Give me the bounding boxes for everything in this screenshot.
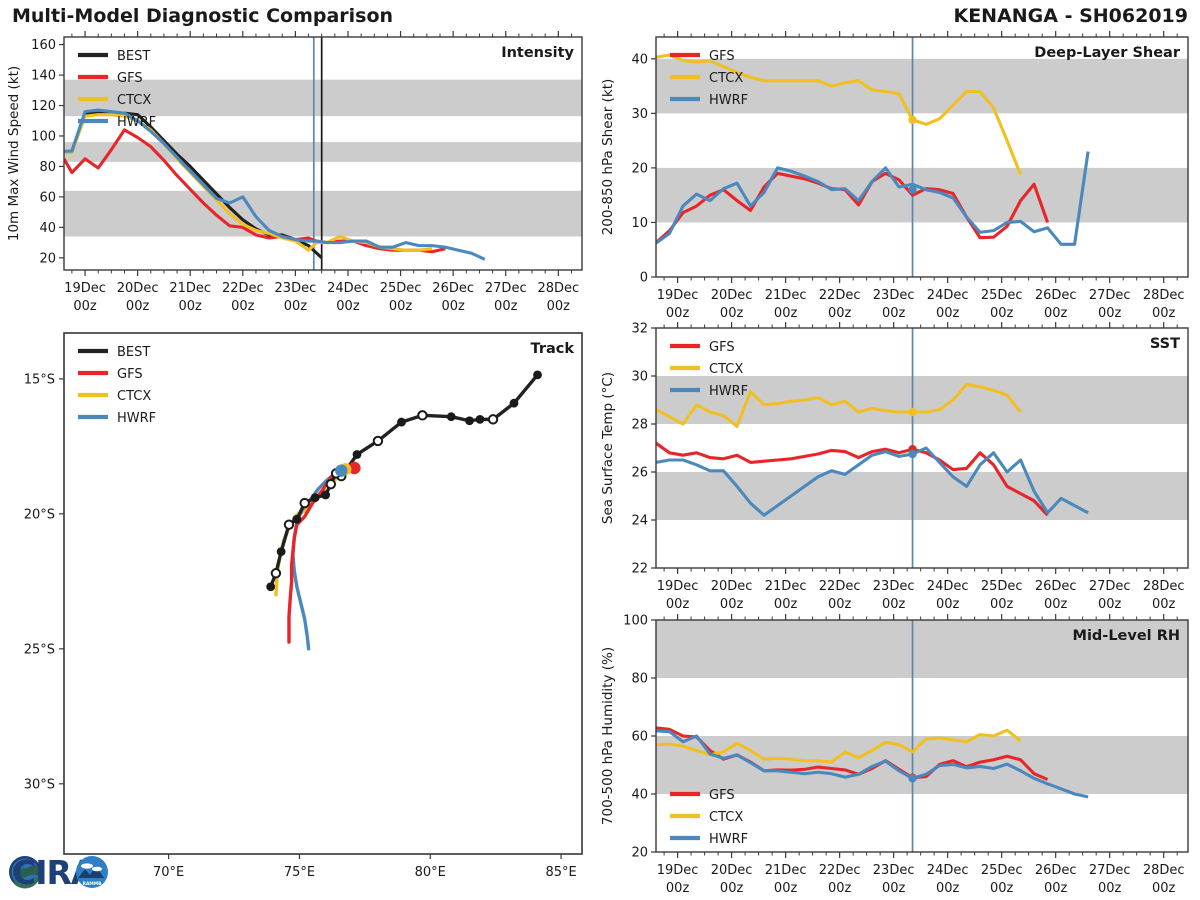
xtick-label-day-sst-19: 19Dec: [657, 579, 699, 594]
shaded-band-intensity-0: [64, 191, 582, 237]
xtick-label-day-rh-24: 24Dec: [927, 863, 969, 878]
ytick-label-intensity-60: 60: [39, 191, 56, 206]
track-marker-best-filled: [321, 491, 330, 500]
vref-marker-shear-ctcx: [908, 116, 916, 124]
xtick-label-day-sst-25: 25Dec: [981, 579, 1023, 594]
xtick-label-day-intensity-20: 20Dec: [117, 281, 159, 296]
xtick-label-hour-sst-19: 00z: [666, 597, 690, 612]
xtick-label-day-intensity-28: 28Dec: [537, 281, 579, 296]
axis-label-shear: 200-850 hPa Shear (kt): [600, 79, 616, 236]
xtick-label-track-2: 80°E: [415, 865, 446, 880]
track-current-position-hwrf: [335, 464, 347, 476]
xtick-label-hour-intensity-22: 00z: [231, 299, 255, 314]
legend-label-rh-gfs: GFS: [709, 788, 735, 803]
xtick-label-day-sst-24: 24Dec: [927, 579, 969, 594]
ytick-label-shear-0: 0: [640, 271, 648, 286]
xtick-label-hour-sst-25: 00z: [990, 597, 1014, 612]
xtick-label-day-shear-23: 23Dec: [873, 288, 915, 303]
ytick-label-rh-80: 80: [631, 672, 648, 687]
xtick-label-hour-shear-22: 00z: [828, 306, 852, 321]
xtick-label-hour-rh-21: 00z: [774, 881, 798, 896]
legend-label-track-ctcx: CTCX: [117, 389, 151, 404]
xtick-label-track-3: 85°E: [545, 865, 576, 880]
xtick-label-hour-rh-20: 00z: [720, 881, 744, 896]
legend-label-rh-ctcx: CTCX: [709, 810, 743, 825]
track-marker-best-filled: [277, 547, 286, 556]
legend-label-track-hwrf: HWRF: [117, 411, 156, 426]
xtick-label-hour-sst-22: 00z: [828, 597, 852, 612]
xtick-label-day-shear-27: 27Dec: [1089, 288, 1131, 303]
xtick-label-day-sst-20: 20Dec: [711, 579, 753, 594]
xtick-label-hour-rh-27: 00z: [1098, 881, 1122, 896]
xtick-label-track-0: 70°E: [153, 865, 184, 880]
xtick-label-day-sst-21: 21Dec: [765, 579, 807, 594]
xtick-label-day-rh-26: 26Dec: [1035, 863, 1077, 878]
figure-canvas: Multi-Model Diagnostic Comparison KENANG…: [0, 0, 1200, 900]
track-marker-best-filled: [397, 418, 406, 427]
xtick-label-hour-sst-21: 00z: [774, 597, 798, 612]
xtick-label-day-intensity-27: 27Dec: [485, 281, 527, 296]
xtick-label-day-sst-23: 23Dec: [873, 579, 915, 594]
legend-label-intensity-gfs: GFS: [117, 71, 143, 86]
legend-label-shear-hwrf: HWRF: [709, 93, 748, 108]
legend-label-rh-hwrf: HWRF: [709, 832, 748, 847]
track-marker-best-filled: [533, 370, 542, 379]
xtick-label-hour-shear-21: 00z: [774, 306, 798, 321]
xtick-label-day-intensity-23: 23Dec: [275, 281, 317, 296]
xtick-label-day-shear-25: 25Dec: [981, 288, 1023, 303]
xtick-label-track-1: 75°E: [284, 865, 315, 880]
ytick-label-sst-22: 22: [631, 562, 648, 577]
axis-label-rh: 700-500 hPa Humidity (%): [600, 647, 616, 825]
xtick-label-hour-shear-25: 00z: [990, 306, 1014, 321]
panel-tag-intensity: Intensity: [501, 45, 574, 61]
track-marker-best-open: [285, 520, 293, 528]
track-marker-best-filled: [465, 416, 474, 425]
track-marker-best-open: [489, 415, 497, 423]
track-marker-best-filled: [292, 515, 301, 524]
xtick-label-day-rh-23: 23Dec: [873, 863, 915, 878]
xtick-label-hour-intensity-25: 00z: [389, 299, 413, 314]
ytick-label-intensity-80: 80: [39, 160, 56, 175]
ytick-label-intensity-140: 140: [31, 69, 56, 84]
ytick-label-shear-20: 20: [631, 162, 648, 177]
xtick-label-hour-intensity-19: 00z: [73, 299, 97, 314]
rammb-badge-icon: RAMMB: [76, 856, 108, 888]
xtick-label-hour-rh-26: 00z: [1044, 881, 1068, 896]
ytick-label-track-3: 30°S: [24, 777, 55, 792]
xtick-label-hour-sst-28: 00z: [1152, 597, 1176, 612]
track-marker-best-filled: [353, 450, 362, 459]
legend-label-sst-hwrf: HWRF: [709, 384, 748, 399]
xtick-label-hour-shear-28: 00z: [1152, 306, 1176, 321]
track-marker-best-open: [272, 569, 280, 577]
track-marker-best-filled: [311, 493, 320, 502]
xtick-label-hour-rh-19: 00z: [666, 881, 690, 896]
xtick-label-day-shear-22: 22Dec: [819, 288, 861, 303]
track-marker-best-open: [327, 480, 335, 488]
xtick-label-day-shear-19: 19Dec: [657, 288, 699, 303]
ytick-label-sst-30: 30: [631, 370, 648, 385]
xtick-label-hour-intensity-28: 00z: [547, 299, 571, 314]
xtick-label-hour-rh-28: 00z: [1152, 881, 1176, 896]
ytick-label-shear-10: 10: [631, 216, 648, 231]
ytick-label-intensity-120: 120: [31, 99, 56, 114]
xtick-label-hour-shear-20: 00z: [720, 306, 744, 321]
xtick-label-hour-sst-26: 00z: [1044, 597, 1068, 612]
legend-label-intensity-hwrf: HWRF: [117, 115, 156, 130]
shaded-band-intensity-1: [64, 142, 582, 162]
xtick-label-day-shear-24: 24Dec: [927, 288, 969, 303]
legend-label-sst-ctcx: CTCX: [709, 362, 743, 377]
storm-id-title: KENANGA - SH062019: [953, 5, 1188, 27]
xtick-label-hour-shear-24: 00z: [936, 306, 960, 321]
ytick-label-rh-40: 40: [631, 788, 648, 803]
xtick-label-hour-rh-24: 00z: [936, 881, 960, 896]
panel-shear: 01020304019Dec00z20Dec00z21Dec00z22Dec00…: [600, 31, 1188, 321]
track-marker-best-open: [418, 411, 426, 419]
xtick-label-hour-shear-27: 00z: [1098, 306, 1122, 321]
ytick-label-track-0: 15°S: [24, 372, 55, 387]
xtick-label-hour-shear-26: 00z: [1044, 306, 1068, 321]
axis-label-sst: Sea Surface Temp (°C): [600, 372, 616, 524]
legend-label-track-best: BEST: [117, 345, 150, 360]
xtick-label-hour-intensity-21: 00z: [179, 299, 203, 314]
cira-logo: CIRA RAMMB: [9, 853, 108, 892]
ytick-label-intensity-40: 40: [39, 221, 56, 236]
vref-marker-rh-hwrf: [908, 774, 916, 782]
ytick-label-shear-40: 40: [631, 52, 648, 67]
track-marker-best-filled: [510, 399, 519, 408]
xtick-label-day-rh-22: 22Dec: [819, 863, 861, 878]
ytick-label-intensity-100: 100: [31, 130, 56, 145]
legend-label-intensity-best: BEST: [117, 49, 150, 64]
ytick-label-rh-100: 100: [623, 614, 648, 629]
track-marker-best-open: [300, 499, 308, 507]
xtick-label-day-sst-28: 28Dec: [1143, 579, 1185, 594]
ytick-label-rh-60: 60: [631, 730, 648, 745]
xtick-label-hour-rh-25: 00z: [990, 881, 1014, 896]
ytick-label-sst-24: 24: [631, 514, 648, 529]
xtick-label-day-shear-21: 21Dec: [765, 288, 807, 303]
panel-tag-shear: Deep-Layer Shear: [1034, 45, 1181, 61]
shaded-band-shear-0: [656, 168, 1188, 223]
axis-label-intensity: 10m Max Wind Speed (kt): [6, 66, 22, 241]
xtick-label-day-intensity-25: 25Dec: [380, 281, 422, 296]
xtick-label-hour-intensity-26: 00z: [441, 299, 465, 314]
xtick-label-day-shear-28: 28Dec: [1143, 288, 1185, 303]
xtick-label-day-intensity-24: 24Dec: [327, 281, 369, 296]
legend-label-shear-ctcx: CTCX: [709, 71, 743, 86]
xtick-label-hour-sst-23: 00z: [882, 597, 906, 612]
panel-tag-track: Track: [531, 341, 575, 357]
ytick-label-intensity-20: 20: [39, 251, 56, 266]
xtick-label-day-intensity-26: 26Dec: [432, 281, 474, 296]
panel-tag-sst: SST: [1150, 336, 1180, 352]
xtick-label-day-sst-22: 22Dec: [819, 579, 861, 594]
track-marker-best-filled: [476, 415, 485, 424]
xtick-label-day-intensity-22: 22Dec: [222, 281, 264, 296]
vref-marker-sst-ctcx: [908, 408, 916, 416]
xtick-label-hour-shear-23: 00z: [882, 306, 906, 321]
xtick-label-hour-intensity-23: 00z: [284, 299, 308, 314]
svg-text:RAMMB: RAMMB: [83, 881, 103, 887]
xtick-label-day-rh-21: 21Dec: [765, 863, 807, 878]
xtick-label-day-sst-26: 26Dec: [1035, 579, 1077, 594]
ytick-label-intensity-160: 160: [31, 38, 56, 53]
xtick-label-day-shear-20: 20Dec: [711, 288, 753, 303]
track-marker-best-filled: [266, 582, 275, 591]
xtick-label-hour-intensity-27: 00z: [494, 299, 518, 314]
xtick-label-day-rh-19: 19Dec: [657, 863, 699, 878]
xtick-label-hour-sst-20: 00z: [720, 597, 744, 612]
xtick-label-day-rh-25: 25Dec: [981, 863, 1023, 878]
legend-label-shear-gfs: GFS: [709, 49, 735, 64]
xtick-label-day-rh-27: 27Dec: [1089, 863, 1131, 878]
panel-tag-rh: Mid-Level RH: [1073, 628, 1180, 644]
xtick-label-day-sst-27: 27Dec: [1089, 579, 1131, 594]
page-title: Multi-Model Diagnostic Comparison: [12, 5, 393, 27]
xtick-label-day-intensity-19: 19Dec: [64, 281, 106, 296]
legend-label-track-gfs: GFS: [117, 367, 143, 382]
ytick-label-track-2: 25°S: [24, 642, 55, 657]
xtick-label-day-shear-26: 26Dec: [1035, 288, 1077, 303]
ytick-label-track-1: 20°S: [24, 507, 55, 522]
ytick-label-sst-28: 28: [631, 418, 648, 433]
xtick-label-hour-intensity-20: 00z: [126, 299, 150, 314]
ytick-label-sst-32: 32: [631, 322, 648, 337]
xtick-label-day-rh-28: 28Dec: [1143, 863, 1185, 878]
legend-label-sst-gfs: GFS: [709, 340, 735, 355]
xtick-label-hour-shear-19: 00z: [666, 306, 690, 321]
xtick-label-hour-rh-23: 00z: [882, 881, 906, 896]
xtick-label-hour-rh-22: 00z: [828, 881, 852, 896]
legend-label-intensity-ctcx: CTCX: [117, 93, 151, 108]
ytick-label-shear-30: 30: [631, 107, 648, 122]
shaded-band-sst-0: [656, 472, 1188, 520]
track-marker-best-open: [374, 437, 382, 445]
vref-marker-sst-hwrf: [908, 450, 916, 458]
ytick-label-sst-26: 26: [631, 466, 648, 481]
track-marker-best-filled: [447, 412, 456, 421]
xtick-label-day-intensity-21: 21Dec: [169, 281, 211, 296]
xtick-label-day-rh-20: 20Dec: [711, 863, 753, 878]
xtick-label-hour-intensity-24: 00z: [336, 299, 360, 314]
vref-marker-shear-hwrf: [908, 186, 916, 194]
xtick-label-hour-sst-27: 00z: [1098, 597, 1122, 612]
ytick-label-rh-20: 20: [631, 846, 648, 861]
xtick-label-hour-sst-24: 00z: [936, 597, 960, 612]
diagnostic-comparison-page: Multi-Model Diagnostic Comparison KENANG…: [0, 0, 1200, 900]
